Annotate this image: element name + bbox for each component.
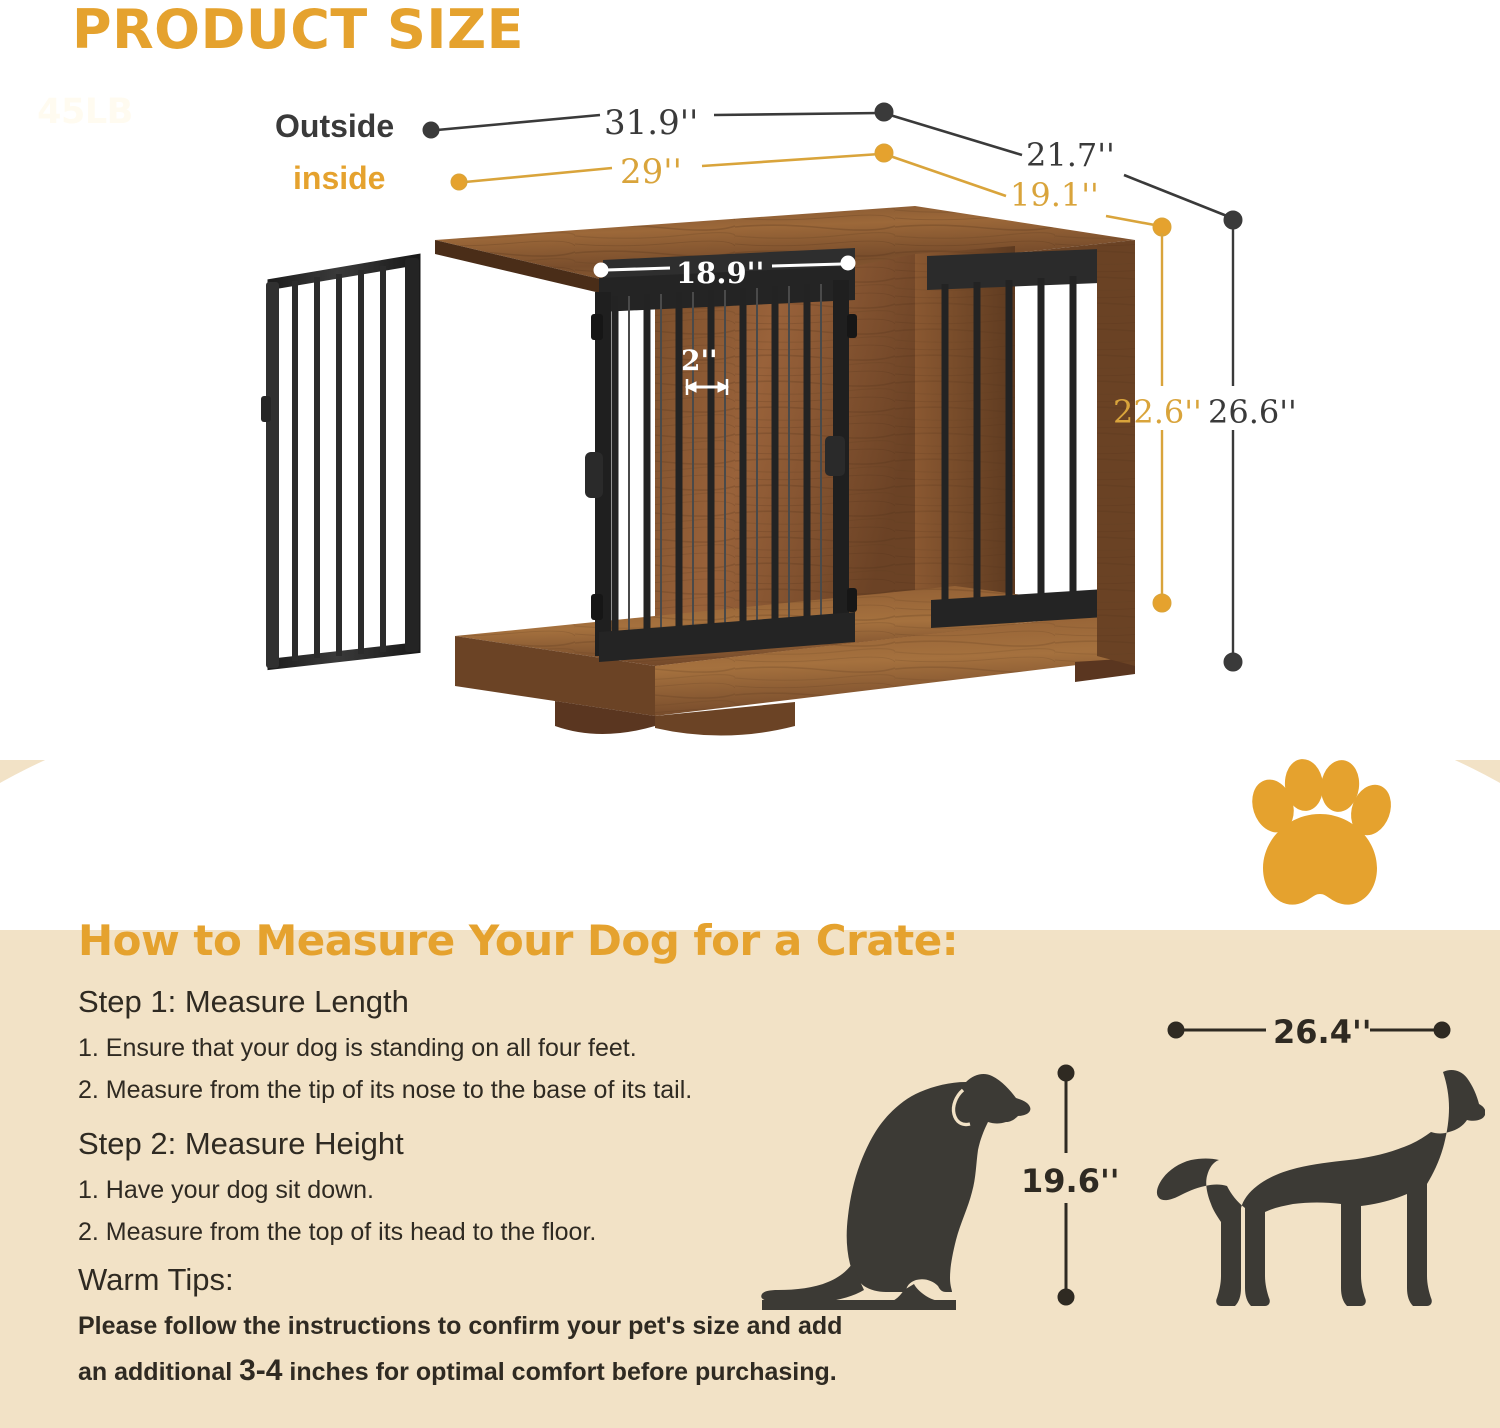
warm-tips-heading: Warm Tips: bbox=[78, 1262, 234, 1298]
legend-outside-label: Outside bbox=[275, 108, 394, 145]
infographic-root: PRODUCT SIZE Outside inside bbox=[0, 0, 1500, 1428]
step1-line-1: 1. Ensure that your dog is standing on a… bbox=[78, 1034, 637, 1063]
dimension-outside-width: 31.9'' bbox=[604, 103, 698, 143]
step2-line-2: 2. Measure from the top of its head to t… bbox=[78, 1218, 596, 1247]
guide-heading: How to Measure Your Dog for a Crate: bbox=[78, 916, 958, 965]
dimension-outside-depth: 21.7'' bbox=[1026, 136, 1115, 174]
warm-tips-line2-pre: an additional bbox=[78, 1358, 239, 1386]
step2-line-1: 1. Have your dog sit down. bbox=[78, 1176, 374, 1205]
warm-tips-line-2: an additional 3-4 inches for optimal com… bbox=[78, 1354, 837, 1388]
step1-line-2: 2. Measure from the tip of its nose to t… bbox=[78, 1076, 692, 1105]
warm-tips-line-1: Please follow the instructions to confir… bbox=[78, 1312, 842, 1341]
dimension-bar-spacing: 2'' bbox=[681, 344, 718, 377]
paw-print-icon bbox=[1232, 758, 1402, 920]
weight-badge-label: 45LB bbox=[0, 92, 170, 132]
legend-inside-label: inside bbox=[293, 160, 385, 197]
dimension-inside-depth: 19.1'' bbox=[1010, 176, 1099, 214]
crate-front-left-stile bbox=[435, 254, 655, 666]
step1-heading: Step 1: Measure Length bbox=[78, 984, 409, 1020]
warm-tips-line2-post: inches for optimal comfort before purcha… bbox=[282, 1358, 836, 1386]
step2-heading: Step 2: Measure Height bbox=[78, 1126, 404, 1162]
crate-right-outer-stile bbox=[1097, 242, 1135, 666]
dimension-inside-width: 29'' bbox=[620, 152, 682, 192]
crate-open-door bbox=[261, 258, 419, 668]
dimension-door-width: 18.9'' bbox=[676, 256, 764, 290]
warm-tips-emphasis: 3-4 bbox=[239, 1354, 282, 1387]
dog-length-dimension: 26.4'' bbox=[1273, 1013, 1372, 1051]
dog-dimension-lines bbox=[1000, 995, 1500, 1325]
dimension-inside-height: 22.6'' bbox=[1113, 393, 1202, 431]
dimension-outside-height: 26.6'' bbox=[1208, 393, 1297, 431]
crate-right-wood-wall bbox=[915, 246, 1015, 636]
dog-height-dimension: 19.6'' bbox=[1021, 1162, 1120, 1200]
page-title: PRODUCT SIZE bbox=[72, 0, 524, 61]
